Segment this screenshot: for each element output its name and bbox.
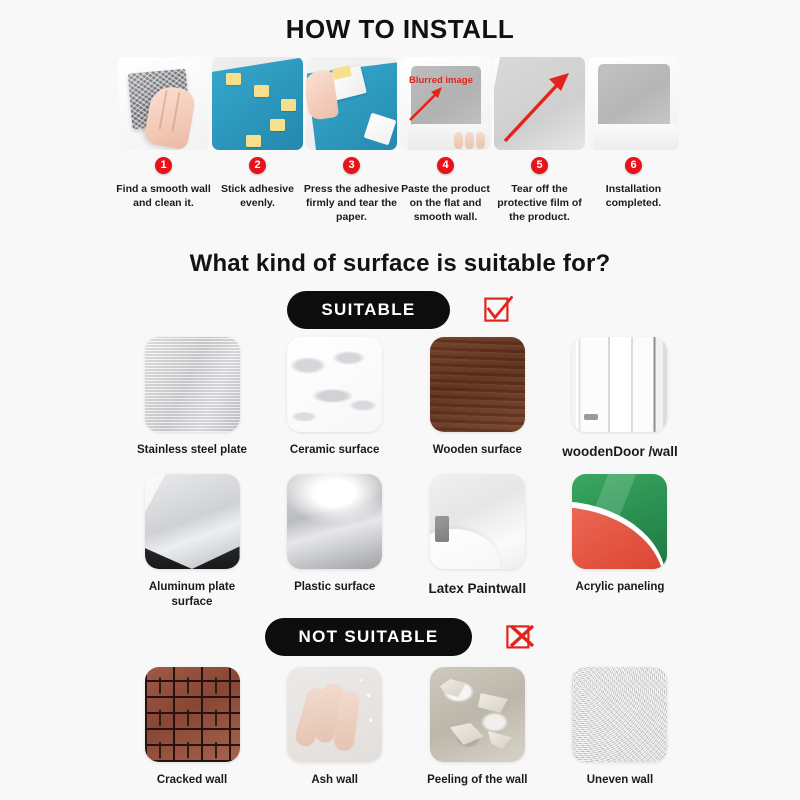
step-caption: Find a smooth wall and clean it.: [114, 182, 214, 210]
install-step: 3 Press the adhesive firmly and tear the…: [306, 57, 397, 232]
brick-offset-shape: [159, 667, 240, 762]
suitable-banner-row: SUITABLE: [0, 291, 800, 329]
surface-cell[interactable]: Wooden surface: [413, 337, 541, 461]
step-number-badge: 3: [343, 157, 360, 174]
surface-question-title: What kind of surface is suitable for?: [0, 250, 800, 278]
surface-label: Ceramic surface: [290, 443, 380, 458]
blurred-image-arrow-icon: [406, 84, 448, 124]
hand-wiping-cloth-image: [118, 57, 209, 150]
finger-shape: [454, 132, 463, 149]
adhesive-square: [246, 135, 261, 147]
surface-cell[interactable]: Stainless steel plate: [128, 337, 256, 461]
paint-flake-shape: [440, 679, 466, 697]
peeling-paint-wall-tile: [430, 667, 525, 762]
dark-wood-tile: [430, 337, 525, 432]
surface-label: Plastic surface: [294, 580, 375, 595]
install-step: 1 Find a smooth wall and clean it.: [118, 57, 209, 232]
ash-powder-wall-tile: [287, 667, 382, 762]
adhesive-squares-panel-image: [212, 57, 303, 150]
surface-cell[interactable]: Plastic surface: [271, 474, 399, 610]
paint-flake-shape: [488, 731, 512, 749]
wall-switch-shape: [435, 516, 449, 542]
install-step: Blurred image 4 Paste the product on the…: [400, 57, 491, 232]
step-caption: Paste the product on the flat and smooth…: [396, 182, 496, 225]
hands-shape: [594, 124, 678, 150]
surface-label: Uneven wall: [587, 773, 653, 788]
installed-panel-image: [588, 57, 679, 150]
peel-direction-arrow-icon: [497, 61, 583, 149]
surface-label: Ash wall: [311, 773, 358, 788]
surface-cell[interactable]: Peeling of the wall: [413, 667, 541, 788]
surface-label: Aluminum plate surface: [128, 580, 256, 610]
surface-cell[interactable]: Cracked wall: [128, 667, 256, 788]
step-number-badge: 4: [437, 157, 454, 174]
tearing-protective-film-image: [494, 57, 585, 150]
suitable-banner-label: SUITABLE: [287, 291, 449, 329]
adhesive-square: [270, 119, 285, 131]
install-step: 6 Installation completed.: [588, 57, 679, 232]
step-number-badge: 5: [531, 157, 548, 174]
step-caption: Press the adhesive firmly and tear the p…: [302, 182, 402, 225]
not-suitable-grid-row: Cracked wall Ash wall Peeling of the wal…: [128, 667, 684, 788]
aluminum-plate-tile: [145, 474, 240, 569]
surface-cell[interactable]: woodenDoor /wall: [556, 337, 684, 461]
acrylic-panel-tile: [572, 474, 667, 569]
pasting-panel-on-wall-image: Blurred image: [400, 57, 491, 150]
step-caption: Stick adhesive evenly.: [208, 182, 308, 210]
page-title: HOW TO INSTALL: [0, 14, 800, 45]
surface-label: Latex Paintwall: [429, 580, 527, 598]
door-handle-shape: [584, 414, 598, 420]
step-number-badge: 1: [155, 157, 172, 174]
not-suitable-banner-label: NOT SUITABLE: [265, 618, 473, 656]
brick-wall-tile: [145, 667, 240, 762]
step-number-badge: 6: [625, 157, 642, 174]
check-mark-icon: [484, 296, 513, 325]
uneven-textured-wall-tile: [572, 667, 667, 762]
adhesive-square: [226, 73, 241, 85]
surface-cell[interactable]: Uneven wall: [556, 667, 684, 788]
plastic-surface-tile: [287, 474, 382, 569]
surface-label: Peeling of the wall: [427, 773, 527, 788]
suitable-grid-row-2: Aluminum plate surface Plastic surface L…: [128, 474, 684, 610]
white-wooden-door-tile: [572, 337, 667, 432]
surface-label: Cracked wall: [157, 773, 227, 788]
cross-mark-icon: [506, 623, 535, 652]
surface-cell[interactable]: Ash wall: [271, 667, 399, 788]
paint-flake-shape: [478, 693, 508, 713]
step-caption: Installation completed.: [584, 182, 684, 210]
hands-shape: [408, 124, 490, 150]
install-step: 2 Stick adhesive evenly.: [212, 57, 303, 232]
ceramic-marble-tile: [287, 337, 382, 432]
latex-paint-wall-tile: [430, 474, 525, 569]
surface-cell[interactable]: Aluminum plate surface: [128, 474, 256, 610]
paint-flake-shape: [450, 723, 484, 745]
stainless-steel-tile: [145, 337, 240, 432]
surface-cell[interactable]: Acrylic paneling: [556, 474, 684, 610]
adhesive-square: [254, 85, 269, 97]
finger-shape: [465, 132, 474, 149]
suitable-grid-row-1: Stainless steel plate Ceramic surface Wo…: [128, 337, 684, 461]
surface-label: woodenDoor /wall: [562, 443, 678, 461]
step-number-badge: 2: [249, 157, 266, 174]
not-suitable-banner-row: NOT SUITABLE: [0, 618, 800, 656]
finger-shape: [476, 132, 485, 149]
surface-label: Stainless steel plate: [137, 443, 247, 458]
adhesive-square: [281, 99, 296, 111]
surface-label: Acrylic paneling: [576, 580, 665, 595]
surface-cell[interactable]: Latex Paintwall: [413, 474, 541, 610]
install-steps-strip: 1 Find a smooth wall and clean it. 2 Sti…: [118, 57, 684, 232]
step-caption: Tear off the protective film of the prod…: [490, 182, 590, 225]
infographic-page: HOW TO INSTALL 1 Find a smooth wall and …: [0, 0, 800, 800]
surface-label: Wooden surface: [433, 443, 522, 458]
surface-cell[interactable]: Ceramic surface: [271, 337, 399, 461]
plate-edge-shape: [145, 535, 240, 569]
install-step: 5 Tear off the protective film of the pr…: [494, 57, 585, 232]
peeling-backing-paper-image: [306, 57, 397, 150]
